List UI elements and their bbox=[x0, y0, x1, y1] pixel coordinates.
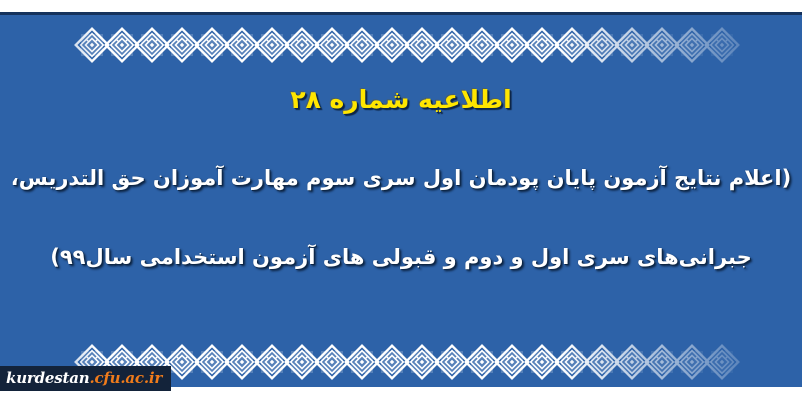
site-url-name: kurdestan bbox=[6, 371, 89, 386]
announcement-headline: اطلاعیه شماره ۲۸ bbox=[290, 87, 511, 112]
announcement-banner: اطلاعیه شماره ۲۸ (اعلام نتایج آزمون پایا… bbox=[0, 0, 802, 400]
site-url-plate[interactable]: kurdestan.cfu.ac.ir bbox=[0, 366, 171, 391]
announcement-text-block: اطلاعیه شماره ۲۸ (اعلام نتایج آزمون پایا… bbox=[0, 15, 802, 387]
announcement-body-line-2: جبرانی‌های سری اول و دوم و قبولی های آزم… bbox=[50, 247, 752, 268]
site-url-domain: .cfu.ac.ir bbox=[89, 371, 162, 386]
banner-background: اطلاعیه شماره ۲۸ (اعلام نتایج آزمون پایا… bbox=[0, 12, 802, 387]
announcement-body-line-1: (اعلام نتایج آزمون پایان پودمان اول سری … bbox=[11, 168, 791, 189]
